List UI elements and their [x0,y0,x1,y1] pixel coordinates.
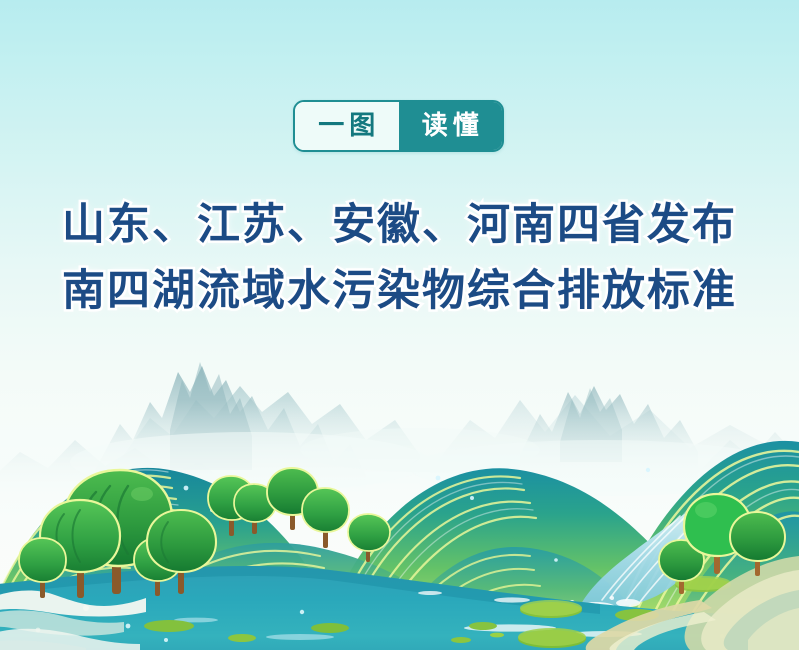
read-in-one-picture-badge[interactable]: 一图 读懂 [293,100,504,152]
tree-hilltop-5 [348,514,390,562]
poster-root: 一图 读懂 山东、江苏、安徽、河南四省发布 南四湖流域水污染物综合排放标准 [0,0,799,650]
badge-left-half: 一图 [295,102,399,150]
title-line-1: 山东、江苏、安徽、河南四省发布 [0,192,799,258]
tree-right-medium [730,512,785,576]
title-line-2: 南四湖流域水污染物综合排放标准 [0,258,799,324]
tree-hilltop-4 [302,488,349,548]
page-title: 山东、江苏、安徽、河南四省发布 南四湖流域水污染物综合排放标准 [0,192,799,324]
trees-layer [0,0,799,650]
badge-left-label: 一图 [313,113,380,139]
badge-right-half: 读懂 [399,102,503,150]
badge-right-label: 读懂 [417,113,484,139]
tree-small-farleft [19,538,66,598]
